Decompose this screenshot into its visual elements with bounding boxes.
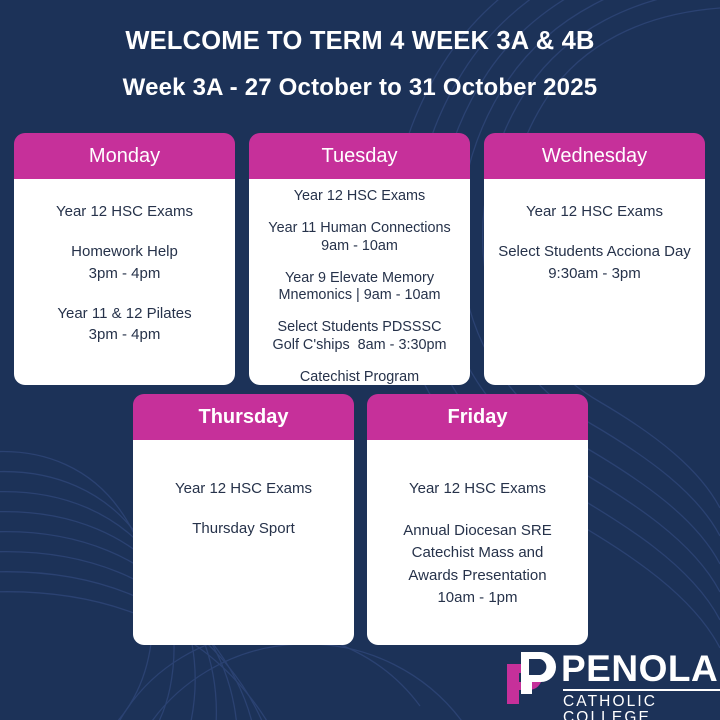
event-entry: Select Students PDSSSC Golf C'ships 8am … bbox=[249, 319, 470, 355]
newsletter-poster: WELCOME TO TERM 4 WEEK 3A & 4B Week 3A -… bbox=[0, 0, 720, 720]
event-entry: Year 11 & 12 Pilates 3pm - 4pm bbox=[14, 303, 235, 346]
logo-wordmark: PENOLA CATHOLIC COLLEGE bbox=[561, 650, 720, 720]
day-card-tuesday: Tuesday Year 12 HSC Exams Year 11 Human … bbox=[249, 133, 470, 385]
event-entry: Catechist Program 10:40am - 12:15pm bbox=[249, 369, 470, 385]
day-header-friday: Friday bbox=[367, 394, 588, 440]
day-body-friday: Year 12 HSC Exams Annual Diocesan SRE Ca… bbox=[367, 440, 588, 645]
logo-divider bbox=[563, 689, 720, 691]
day-card-monday: Monday Year 12 HSC Exams Homework Help 3… bbox=[14, 133, 235, 385]
day-card-wednesday: Wednesday Year 12 HSC Exams Select Stude… bbox=[484, 133, 705, 385]
event-entry: Year 12 HSC Exams bbox=[14, 201, 235, 222]
event-entry: Homework Help 3pm - 4pm bbox=[14, 241, 235, 284]
day-body-thursday: Year 12 HSC Exams Thursday Sport bbox=[133, 440, 354, 645]
school-logo: PENOLA CATHOLIC COLLEGE bbox=[505, 650, 720, 720]
day-header-monday: Monday bbox=[14, 133, 235, 179]
day-header-tuesday: Tuesday bbox=[249, 133, 470, 179]
event-entry: Year 12 HSC Exams bbox=[367, 478, 588, 501]
event-entry: Select Students Acciona Day 9:30am - 3pm bbox=[484, 241, 705, 284]
event-entry: Year 12 HSC Exams bbox=[133, 478, 354, 499]
event-entry: Year 12 HSC Exams bbox=[484, 201, 705, 222]
day-card-thursday: Thursday Year 12 HSC Exams Thursday Spor… bbox=[133, 394, 354, 645]
event-entry: Thursday Sport bbox=[133, 518, 354, 539]
logo-name: PENOLA bbox=[561, 651, 720, 686]
day-header-thursday: Thursday bbox=[133, 394, 354, 440]
event-entry: Year 9 Elevate Memory Mnemonics | 9am - … bbox=[249, 270, 470, 306]
event-entry: Year 11 Human Connections 9am - 10am bbox=[249, 220, 470, 256]
day-header-wednesday: Wednesday bbox=[484, 133, 705, 179]
page-subtitle: Week 3A - 27 October to 31 October 2025 bbox=[0, 55, 720, 101]
day-body-wednesday: Year 12 HSC Exams Select Students Accion… bbox=[484, 179, 705, 385]
poster-headings: WELCOME TO TERM 4 WEEK 3A & 4B Week 3A -… bbox=[0, 0, 720, 101]
page-title: WELCOME TO TERM 4 WEEK 3A & 4B bbox=[0, 0, 720, 55]
day-body-tuesday: Year 12 HSC Exams Year 11 Human Connecti… bbox=[249, 179, 470, 385]
penola-monogram-icon bbox=[505, 650, 557, 706]
logo-tagline: CATHOLIC COLLEGE bbox=[561, 694, 720, 720]
day-body-monday: Year 12 HSC Exams Homework Help 3pm - 4p… bbox=[14, 179, 235, 385]
event-entry: Year 12 HSC Exams bbox=[249, 188, 470, 206]
event-entry: Annual Diocesan SRE Catechist Mass and A… bbox=[367, 520, 588, 610]
day-card-friday: Friday Year 12 HSC Exams Annual Diocesan… bbox=[367, 394, 588, 645]
